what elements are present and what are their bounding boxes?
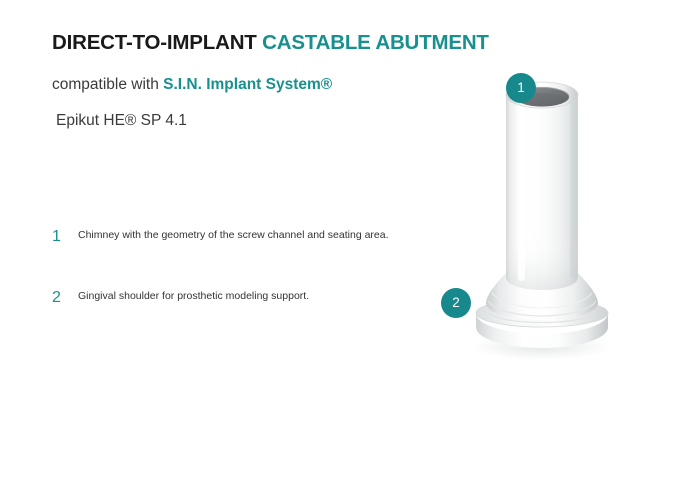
callout-badge-1-label: 1: [517, 81, 525, 95]
product-info-page: DIRECT-TO-IMPLANT CASTABLE ABUTMENT comp…: [0, 0, 700, 500]
header-text-block: DIRECT-TO-IMPLANT CASTABLE ABUTMENT comp…: [52, 30, 472, 131]
legend-item-number: 1: [52, 228, 78, 245]
legend-item-text: Gingival shoulder for prosthetic modelin…: [78, 289, 309, 303]
page-title: DIRECT-TO-IMPLANT CASTABLE ABUTMENT: [52, 30, 472, 56]
implant-system-brand: S.I.N. Implant System®: [163, 76, 332, 93]
callout-badge-1[interactable]: 1: [506, 73, 536, 103]
compatibility-line: compatible with S.I.N. Implant System®: [52, 75, 472, 95]
product-image-castable-abutment: [420, 55, 640, 375]
legend-item: 2 Gingival shoulder for prosthetic model…: [52, 289, 472, 306]
callout-badge-2-label: 2: [452, 296, 460, 310]
page-title-primary: DIRECT-TO-IMPLANT: [52, 31, 257, 54]
legend-item: 1 Chimney with the geometry of the screw…: [52, 228, 472, 245]
feature-legend: 1 Chimney with the geometry of the screw…: [52, 228, 472, 306]
product-shaft: [506, 95, 578, 290]
callout-badge-2[interactable]: 2: [441, 288, 471, 318]
compatibility-prefix: compatible with: [52, 76, 159, 93]
page-title-accent: CASTABLE ABUTMENT: [262, 31, 489, 54]
product-model: Epikut HE® SP 4.1: [56, 111, 472, 131]
legend-item-number: 2: [52, 289, 78, 306]
legend-item-text: Chimney with the geometry of the screw c…: [78, 228, 389, 242]
